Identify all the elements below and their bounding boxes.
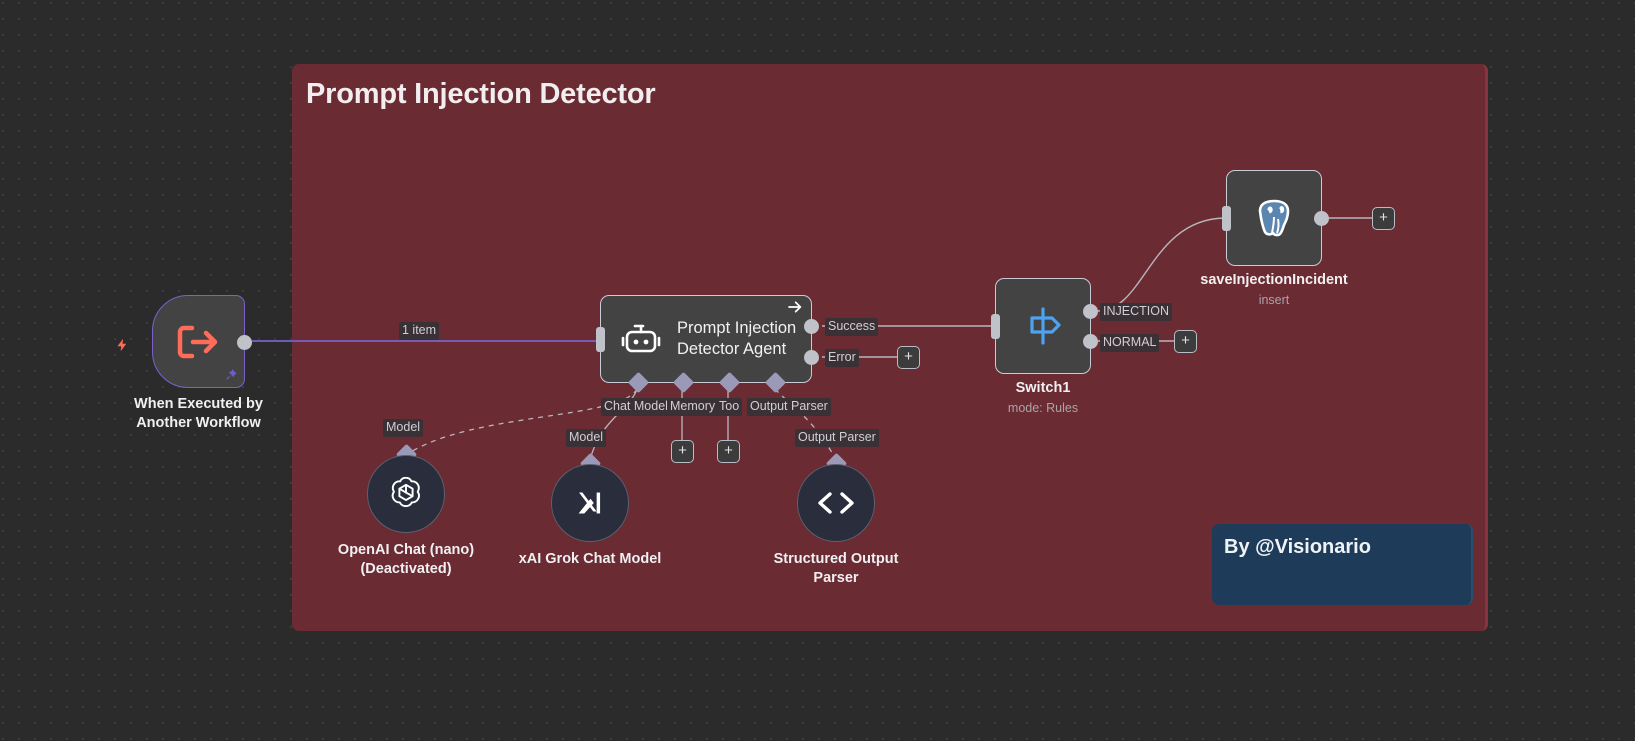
node-title-postgres: saveInjectionIncident [1144,271,1404,290]
node-title-switch: Switch1 [943,379,1143,398]
node-title-trigger-line1: When Executed by [99,395,299,414]
xai-icon [571,484,609,522]
openai-node-body[interactable] [367,455,445,533]
node-title-trigger-line2: Another Workflow [99,414,299,433]
node-title-agent-line1: Prompt Injection [677,318,796,339]
node-structured-output-parser[interactable]: Output Parser Structured Output Parser [797,464,875,542]
agent-input-port[interactable] [596,327,605,352]
port-label-memory: Memory [667,398,718,416]
switch-input-port[interactable] [991,314,1000,339]
agent-node-body[interactable]: Prompt Injection Detector Agent [600,295,812,383]
add-memory-button[interactable]: + [671,440,694,463]
trigger-output-port[interactable] [237,335,252,350]
edge-label-success: Success [825,318,878,336]
open-node-arrow-icon[interactable] [787,300,803,314]
robot-icon [621,321,661,357]
lightning-bolt-icon [115,334,130,356]
node-title-parser-line2: Parser [721,569,951,588]
node-title-grok: xAI Grok Chat Model [470,550,710,569]
node-subtitle-switch: mode: Rules [943,401,1143,415]
node-title-parser-line1: Structured Output [721,550,951,569]
node-openai-chat-nano[interactable]: Model OpenAI Chat (nano) (Deactivated) [367,455,445,533]
code-brackets-icon [815,488,857,518]
postgres-input-port[interactable] [1222,206,1231,231]
node-xai-grok-chat-model[interactable]: Model xAI Grok Chat Model [551,464,629,542]
node-prompt-injection-detector-agent[interactable]: Prompt Injection Detector Agent [600,295,812,383]
edge-label-injection: INJECTION [1100,303,1172,321]
port-label-tool: Too [716,398,742,416]
signpost-icon [1020,304,1066,348]
openai-icon [384,472,428,516]
switch-output-port-injection[interactable] [1083,304,1098,319]
sticky-note-credit[interactable]: By @Visionario [1212,524,1473,605]
page-title: Prompt Injection Detector [306,78,656,111]
edge-label-error: Error [825,349,859,367]
switch-node-body[interactable] [995,278,1091,374]
add-tool-button[interactable]: + [717,440,740,463]
parser-node-body[interactable] [797,464,875,542]
node-save-injection-incident[interactable]: saveInjectionIncident insert [1226,170,1322,266]
execute-workflow-icon [174,323,224,361]
node-title-agent-line2: Detector Agent [677,339,796,360]
port-label-grok-model: Model [566,429,606,447]
port-label-parser-output: Output Parser [795,429,879,447]
port-label-openai-model: Model [383,419,423,437]
grok-node-body[interactable] [551,464,629,542]
node-when-executed-by-another-workflow[interactable]: When Executed by Another Workflow [152,295,245,388]
edge-label-item-count: 1 item [399,322,439,340]
postgres-elephant-icon [1249,193,1299,243]
node-subtitle-postgres: insert [1174,293,1374,307]
pin-icon [224,367,238,383]
add-node-after-normal-button[interactable]: + [1174,330,1197,353]
add-node-after-postgres-button[interactable]: + [1372,207,1395,230]
agent-output-port-error[interactable] [804,350,819,365]
workflow-canvas[interactable]: Prompt Injection Detector By @Visionario [0,0,1635,741]
postgres-node-body[interactable] [1226,170,1322,266]
switch-output-port-normal[interactable] [1083,334,1098,349]
trigger-node-body[interactable] [152,295,245,388]
node-switch1[interactable]: Switch1 mode: Rules [995,278,1091,374]
postgres-output-port[interactable] [1314,211,1329,226]
edge-label-normal: NORMAL [1100,334,1159,352]
credit-label: By @Visionario [1224,536,1371,559]
port-label-output-parser: Output Parser [747,398,831,416]
port-label-chat-model: Chat Model [601,398,671,416]
agent-output-port-success[interactable] [804,319,819,334]
add-node-after-error-button[interactable]: + [897,346,920,369]
